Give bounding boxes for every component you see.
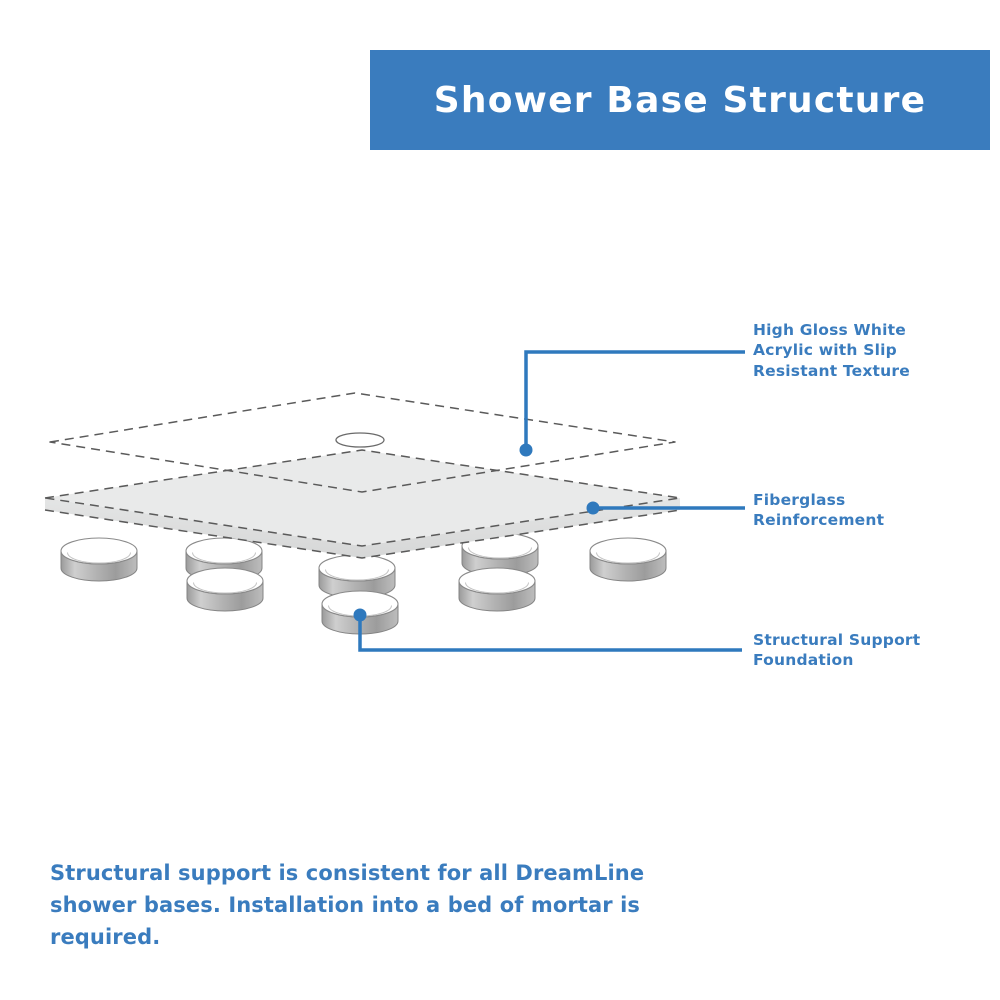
support-ring: [187, 568, 263, 611]
support-ring: [459, 568, 535, 611]
drain-hole-icon: [336, 433, 384, 447]
support-ring: [590, 538, 666, 581]
footer-note: Structural support is consistent for all…: [50, 858, 690, 954]
support-ring: [61, 538, 137, 581]
leader-dot-fiberglass: [587, 502, 600, 515]
callout-label-acrylic: High Gloss White Acrylic with Slip Resis…: [753, 320, 988, 381]
fiberglass-layer: [45, 450, 680, 558]
callout-label-support: Structural Support Foundation: [753, 630, 988, 671]
leader-dot-support: [354, 609, 367, 622]
leader-line-support: [360, 615, 742, 650]
callout-label-fiberglass: Fiberglass Reinforcement: [753, 490, 988, 531]
diagram-page: Shower Base Structure: [0, 0, 1000, 1000]
leader-dot-acrylic: [520, 444, 533, 457]
